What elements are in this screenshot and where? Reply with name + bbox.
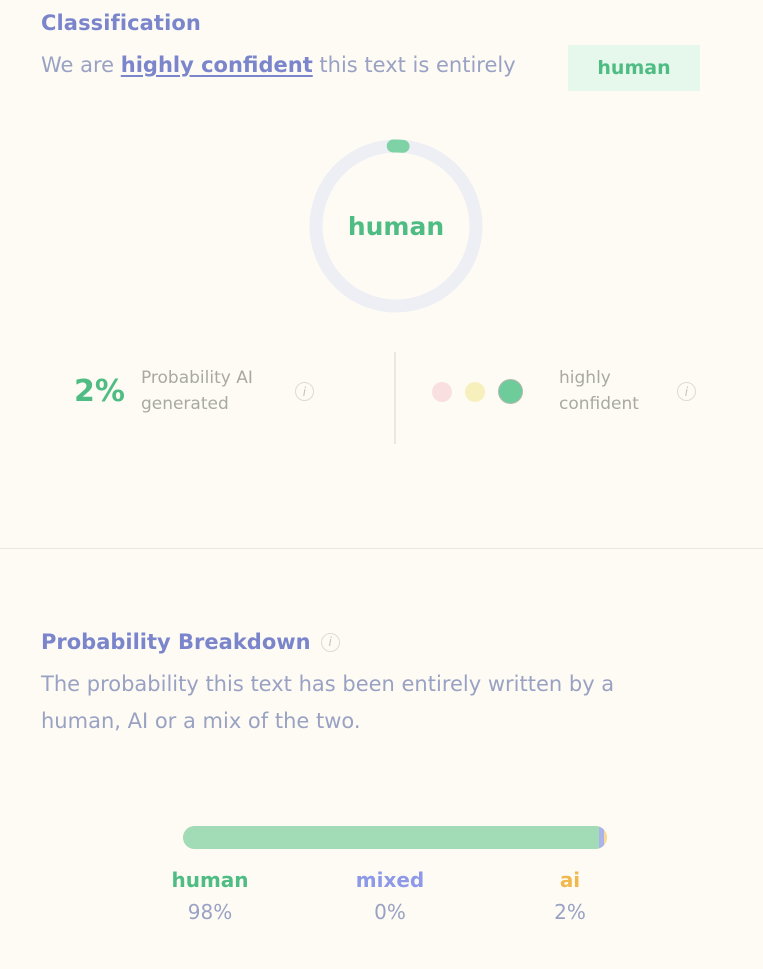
legend-label-ai: ai — [480, 865, 660, 896]
ai-probability-stat: 2% Probability AI generated i — [74, 366, 314, 417]
verdict-emphasis: highly confident — [121, 53, 313, 77]
legend-value-mixed: 0% — [300, 896, 480, 928]
legend-item-mixed: mixed 0% — [300, 865, 480, 928]
confidence-dot-low — [432, 382, 452, 402]
confidence-stat: highly confident i — [432, 366, 696, 417]
info-icon[interactable]: i — [295, 382, 314, 401]
confidence-dot-high — [498, 379, 523, 404]
breakdown-title-row: Probability Breakdown i — [41, 630, 340, 654]
legend-label-human: human — [120, 865, 300, 896]
legend-item-ai: ai 2% — [480, 865, 660, 928]
ai-probability-label-line2: generated — [141, 392, 253, 418]
verdict-suffix: this text is entirely — [313, 53, 516, 77]
legend-label-mixed: mixed — [300, 865, 480, 896]
stats-vertical-divider — [394, 352, 396, 444]
confidence-label-line1: highly — [559, 366, 639, 392]
bar-segment-human — [183, 826, 599, 849]
breakdown-description: The probability this text has been entir… — [41, 666, 691, 740]
info-icon[interactable]: i — [321, 633, 340, 652]
breakdown-title: Probability Breakdown — [41, 630, 311, 654]
confidence-label-line2: confident — [559, 392, 639, 418]
gauge-center-label: human — [309, 139, 483, 313]
confidence-label: highly confident — [559, 366, 639, 417]
page-title: Classification — [41, 11, 201, 35]
probability-bar — [183, 826, 607, 849]
status-badge: human — [568, 45, 700, 91]
stats-row: 2% Probability AI generated i highly con… — [0, 348, 763, 448]
bar-segment-ai — [604, 826, 607, 849]
probability-legend: human 98% mixed 0% ai 2% — [120, 865, 660, 928]
verdict-prefix: We are — [41, 53, 121, 77]
legend-item-human: human 98% — [120, 865, 300, 928]
ai-probability-label-line1: Probability AI — [141, 366, 253, 392]
probability-breakdown-section: Probability Breakdown i The probability … — [0, 549, 763, 969]
confidence-dots — [432, 379, 523, 404]
legend-value-human: 98% — [120, 896, 300, 928]
confidence-gauge: human — [309, 139, 483, 313]
ai-probability-value: 2% — [74, 374, 125, 409]
confidence-dot-medium — [465, 382, 485, 402]
info-icon[interactable]: i — [677, 382, 696, 401]
verdict-sentence: We are highly confident this text is ent… — [41, 53, 516, 77]
legend-value-ai: 2% — [480, 896, 660, 928]
ai-probability-label: Probability AI generated — [141, 366, 253, 417]
classification-section: Classification We are highly confident t… — [0, 0, 763, 548]
